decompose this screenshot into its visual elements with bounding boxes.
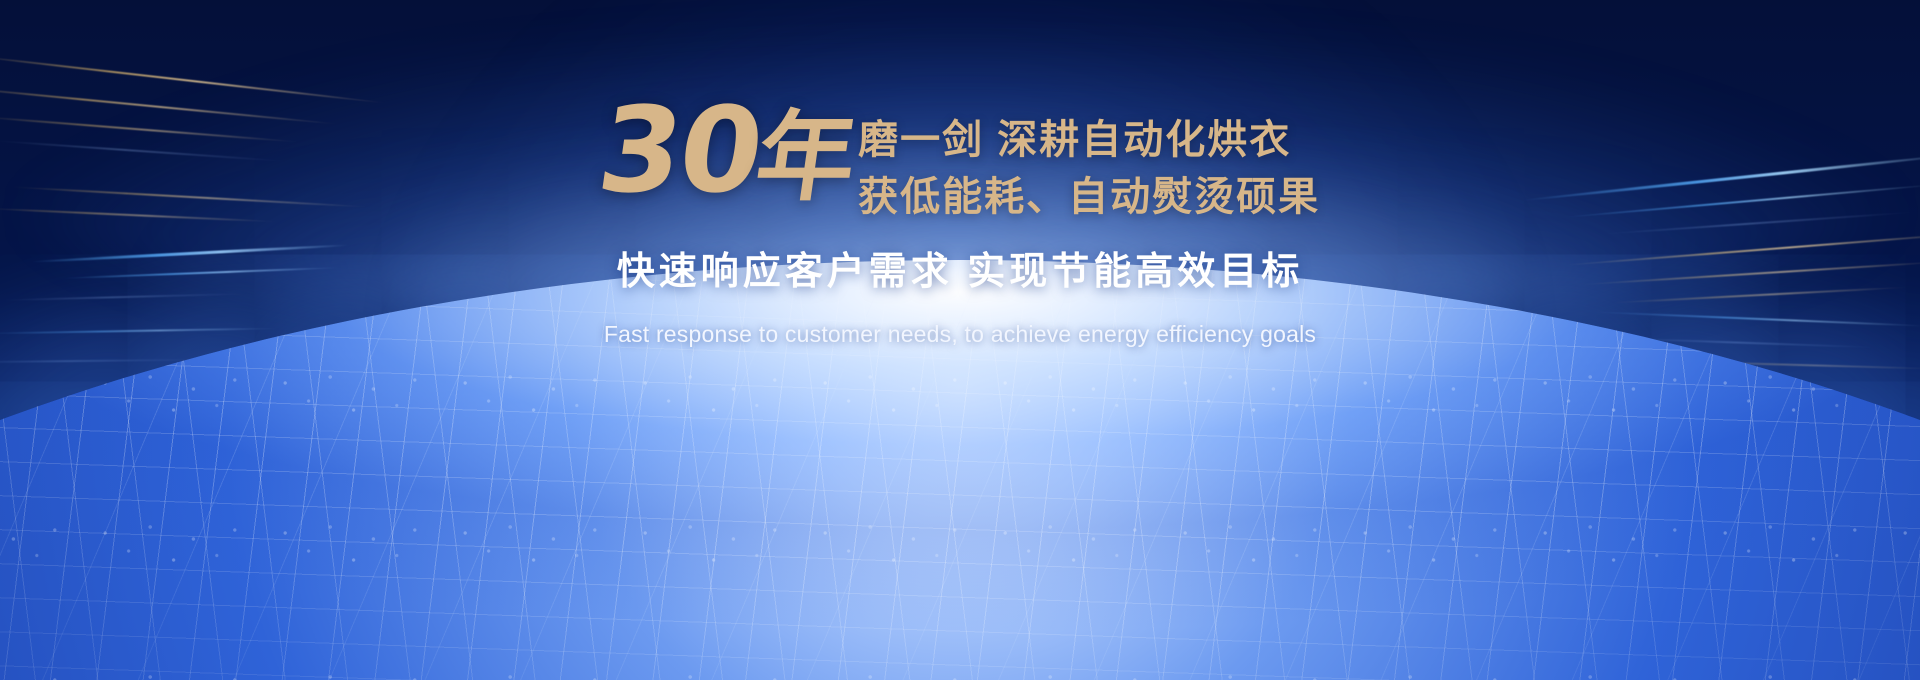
earth-city-lights (0, 290, 1920, 680)
anniversary-unit: 年 (751, 112, 860, 202)
subheadline-english: Fast response to customer needs, to achi… (600, 321, 1320, 348)
gold-headline-line-1: 磨一剑 深耕自动化烘衣 (858, 112, 1320, 169)
anniversary-badge: 30 年 (592, 96, 861, 205)
gold-headline-block: 磨一剑 深耕自动化烘衣 获低能耗、自动熨烫硕果 (858, 96, 1320, 226)
headline-group: 30 年 磨一剑 深耕自动化烘衣 获低能耗、自动熨烫硕果 快速响应客户需求 实现… (600, 96, 1320, 348)
anniversary-number: 30 (592, 96, 767, 205)
headline-main-row: 30 年 磨一剑 深耕自动化烘衣 获低能耗、自动熨烫硕果 (600, 96, 1320, 226)
gold-headline-line-2: 获低能耗、自动熨烫硕果 (858, 169, 1320, 226)
hero-banner: 30 年 磨一剑 深耕自动化烘衣 获低能耗、自动熨烫硕果 快速响应客户需求 实现… (0, 0, 1920, 680)
banner-content: 30 年 磨一剑 深耕自动化烘衣 获低能耗、自动熨烫硕果 快速响应客户需求 实现… (0, 96, 1920, 348)
subheadline-chinese: 快速响应客户需求 实现节能高效目标 (600, 240, 1320, 295)
